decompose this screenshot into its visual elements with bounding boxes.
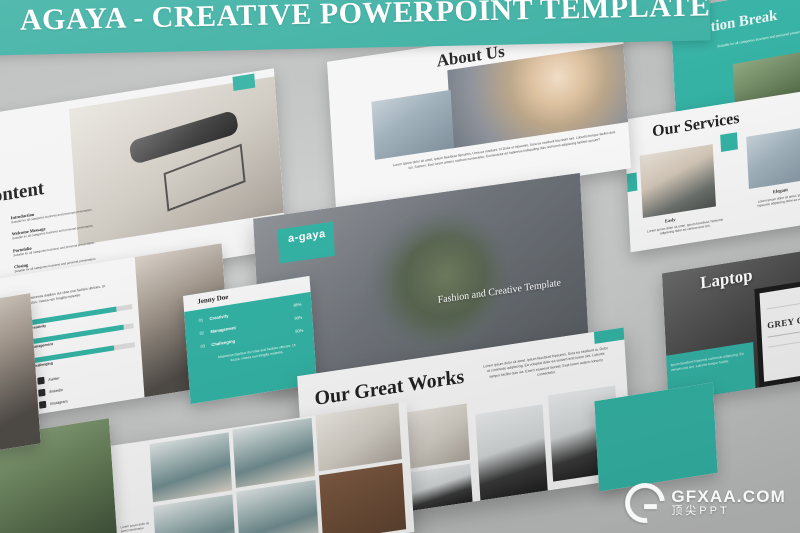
watermark-line1: GFXAA.COM bbox=[671, 488, 786, 506]
watermark-line2: 顶尖PPT bbox=[671, 506, 786, 518]
screenshot-root: Section Break Suitable for all categorie… bbox=[0, 0, 800, 533]
scene-vignette bbox=[0, 0, 800, 533]
gfxaa-g-logo-icon bbox=[617, 475, 673, 531]
watermark: GFXAA.COM 顶尖PPT bbox=[625, 483, 786, 523]
